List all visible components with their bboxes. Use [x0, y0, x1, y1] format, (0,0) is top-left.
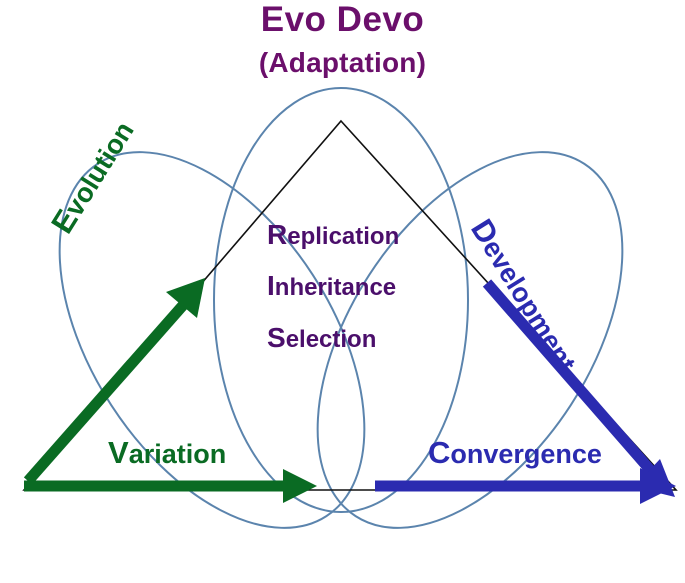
- label-variation-rest: ariation: [129, 439, 227, 469]
- center-term-inheritance-rest: nheritance: [275, 274, 396, 301]
- diagram-subtitle: (Adaptation): [0, 48, 685, 77]
- center-term-selection-initial: S: [267, 322, 286, 353]
- label-convergence: Convergence: [428, 437, 602, 470]
- center-term-replication-rest: eplication: [287, 223, 399, 250]
- label-convergence-initial: C: [428, 435, 450, 470]
- center-term-selection: Selection: [267, 323, 399, 352]
- center-terms: Replication Inheritance Selection: [267, 220, 399, 374]
- center-term-replication-initial: R: [267, 219, 287, 250]
- label-variation-initial: V: [108, 435, 129, 470]
- diagram-canvas: Evo Devo (Adaptation) Replication Inheri…: [0, 0, 685, 583]
- center-term-selection-rest: election: [286, 326, 377, 353]
- center-term-inheritance: Inheritance: [267, 271, 399, 300]
- label-convergence-rest: onvergence: [450, 439, 602, 469]
- center-term-replication: Replication: [267, 220, 399, 249]
- diagram-title: Evo Devo: [0, 2, 685, 39]
- arrow-convergence: [375, 468, 676, 504]
- center-term-inheritance-initial: I: [267, 270, 275, 301]
- label-variation: Variation: [108, 437, 226, 470]
